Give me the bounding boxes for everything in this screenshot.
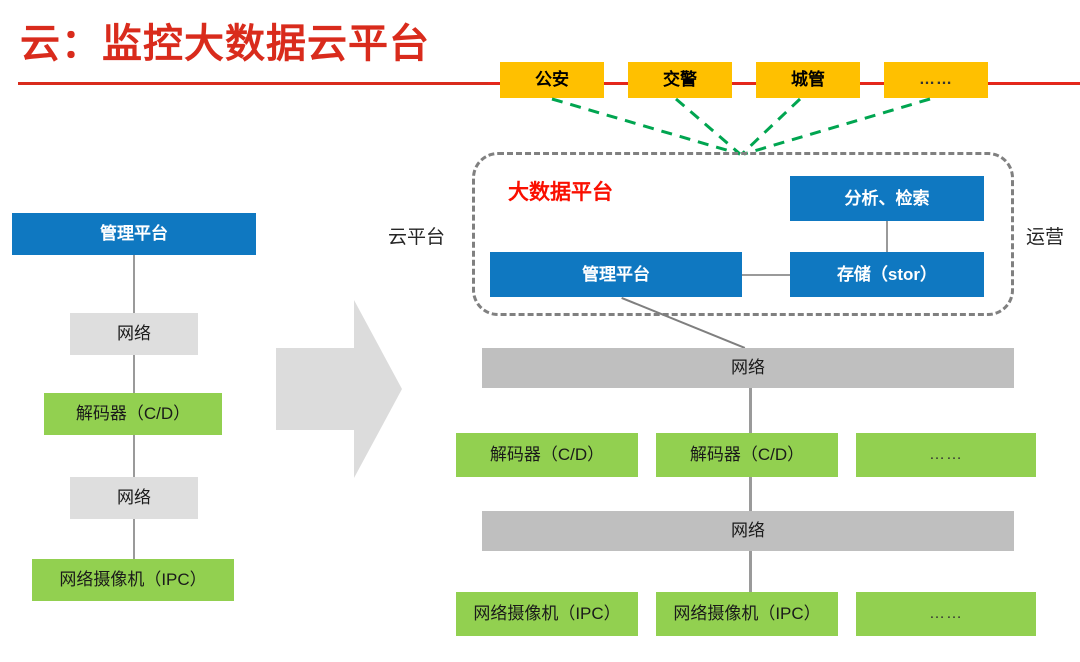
cloud-camera-box-more[interactable]: …… bbox=[856, 592, 1036, 636]
legacy-box-label: 管理平台 bbox=[100, 224, 168, 244]
consumer-label: 公安 bbox=[535, 70, 569, 90]
cloud-connector-network-to-decoder bbox=[749, 388, 752, 433]
consumer-box-gongan[interactable]: 公安 bbox=[500, 62, 604, 98]
legacy-connector-1 bbox=[133, 253, 135, 313]
big-data-platform-title: 大数据平台 bbox=[508, 176, 613, 206]
connector-management-storage bbox=[742, 274, 794, 276]
cloud-stack-network-upper[interactable]: 网络 bbox=[482, 348, 1014, 388]
cloud-decoder-box-1[interactable]: 解码器（C/D） bbox=[456, 433, 638, 477]
camera-label: 网络摄像机（IPC） bbox=[673, 604, 820, 624]
consumer-label: …… bbox=[919, 71, 953, 89]
legacy-connector-3 bbox=[133, 435, 135, 477]
legacy-box-network-upper[interactable]: 网络 bbox=[70, 313, 198, 355]
network-bar-label: 网络 bbox=[731, 358, 765, 378]
connector-analysis-storage bbox=[886, 221, 888, 253]
legacy-box-ip-camera[interactable]: 网络摄像机（IPC） bbox=[32, 559, 234, 601]
cloud-stack-network-lower[interactable]: 网络 bbox=[482, 511, 1014, 551]
legacy-box-decoder[interactable]: 解码器（C/D） bbox=[44, 393, 222, 435]
cloud-decoder-box-2[interactable]: 解码器（C/D） bbox=[656, 433, 838, 477]
decoder-label: …… bbox=[929, 446, 963, 464]
consumer-label: 交警 bbox=[663, 70, 697, 90]
cloud-box-label: 存储（stor） bbox=[837, 265, 937, 285]
consumer-box-chengguan[interactable]: 城管 bbox=[756, 62, 860, 98]
operations-right-label: 运营 bbox=[1026, 222, 1064, 249]
decoder-label: 解码器（C/D） bbox=[490, 445, 604, 465]
page-title: 云：监控大数据云平台 bbox=[20, 22, 430, 66]
decoder-label: 解码器（C/D） bbox=[690, 445, 804, 465]
legacy-connector-4 bbox=[133, 517, 135, 559]
consumer-box-jiaojing[interactable]: 交警 bbox=[628, 62, 732, 98]
legacy-box-label: 网络摄像机（IPC） bbox=[59, 570, 206, 590]
legacy-box-network-lower[interactable]: 网络 bbox=[70, 477, 198, 519]
legacy-box-label: 网络 bbox=[117, 488, 151, 508]
cloud-box-storage[interactable]: 存储（stor） bbox=[790, 252, 984, 297]
legacy-box-label: 网络 bbox=[117, 324, 151, 344]
network-bar-label: 网络 bbox=[731, 521, 765, 541]
cloud-platform-left-label: 云平台 bbox=[388, 222, 445, 249]
legacy-box-management-platform[interactable]: 管理平台 bbox=[12, 213, 256, 255]
consumer-label: 城管 bbox=[791, 70, 825, 90]
cloud-connector-decoder-to-network bbox=[749, 477, 752, 511]
cloud-decoder-box-more[interactable]: …… bbox=[856, 433, 1036, 477]
cloud-connector-network-to-camera bbox=[749, 551, 752, 592]
cloud-box-label: 分析、检索 bbox=[845, 189, 930, 209]
transition-arrow-icon bbox=[276, 300, 402, 478]
consumer-box-more[interactable]: …… bbox=[884, 62, 988, 98]
cloud-camera-box-2[interactable]: 网络摄像机（IPC） bbox=[656, 592, 838, 636]
legacy-box-label: 解码器（C/D） bbox=[76, 404, 190, 424]
cloud-box-label: 管理平台 bbox=[582, 265, 650, 285]
camera-label: 网络摄像机（IPC） bbox=[473, 604, 620, 624]
camera-label: …… bbox=[929, 605, 963, 623]
cloud-box-analysis-search[interactable]: 分析、检索 bbox=[790, 176, 984, 221]
cloud-camera-box-1[interactable]: 网络摄像机（IPC） bbox=[456, 592, 638, 636]
slide-canvas: 云：监控大数据云平台 公安 交警 城管 …… 大数据平台 云平台 运营 分析、检… bbox=[0, 0, 1080, 662]
legacy-connector-2 bbox=[133, 353, 135, 393]
cloud-box-management-platform[interactable]: 管理平台 bbox=[490, 252, 742, 297]
